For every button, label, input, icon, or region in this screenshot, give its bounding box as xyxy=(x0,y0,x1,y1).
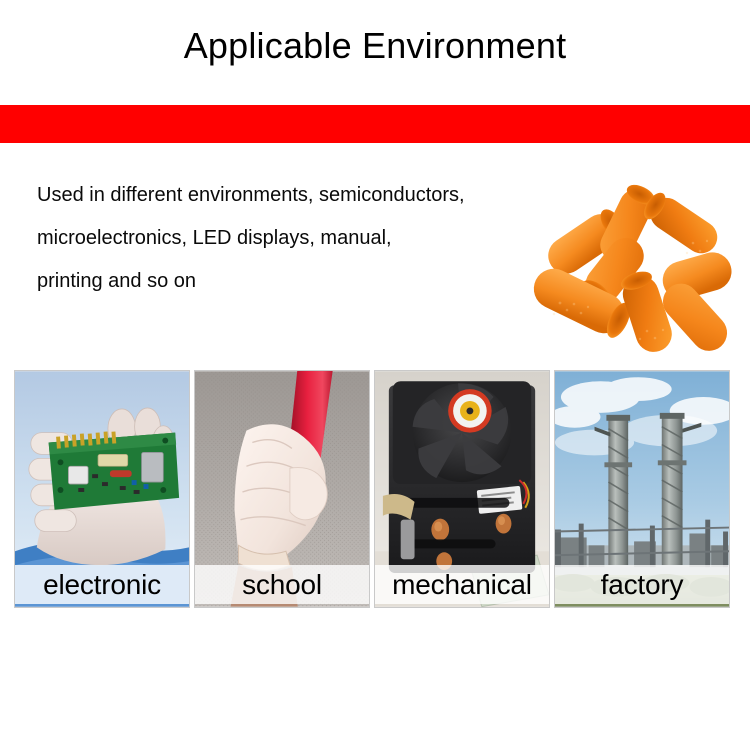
red-accent-bar xyxy=(0,105,750,143)
tile-factory[interactable]: factory xyxy=(554,370,730,608)
description-line-1: Used in different environments, semicond… xyxy=(37,174,597,217)
tile-label-school: school xyxy=(195,565,369,604)
page-title: Applicable Environment xyxy=(0,24,750,68)
tile-electronic[interactable]: electronic xyxy=(14,370,190,608)
tile-label-factory: factory xyxy=(555,565,729,604)
description-line-2: microelectronics, LED displays, manual, xyxy=(37,217,597,260)
applicable-environment-page: Applicable Environment Used in different… xyxy=(0,0,750,750)
tile-label-electronic: electronic xyxy=(15,565,189,604)
tile-mechanical[interactable]: mechanical xyxy=(374,370,550,608)
description-line-3: printing and so on xyxy=(37,260,597,303)
tile-label-mechanical: mechanical xyxy=(375,565,549,604)
description-block: Used in different environments, semicond… xyxy=(37,174,597,303)
tile-school[interactable]: school xyxy=(194,370,370,608)
application-tiles: electronic xyxy=(14,370,734,608)
